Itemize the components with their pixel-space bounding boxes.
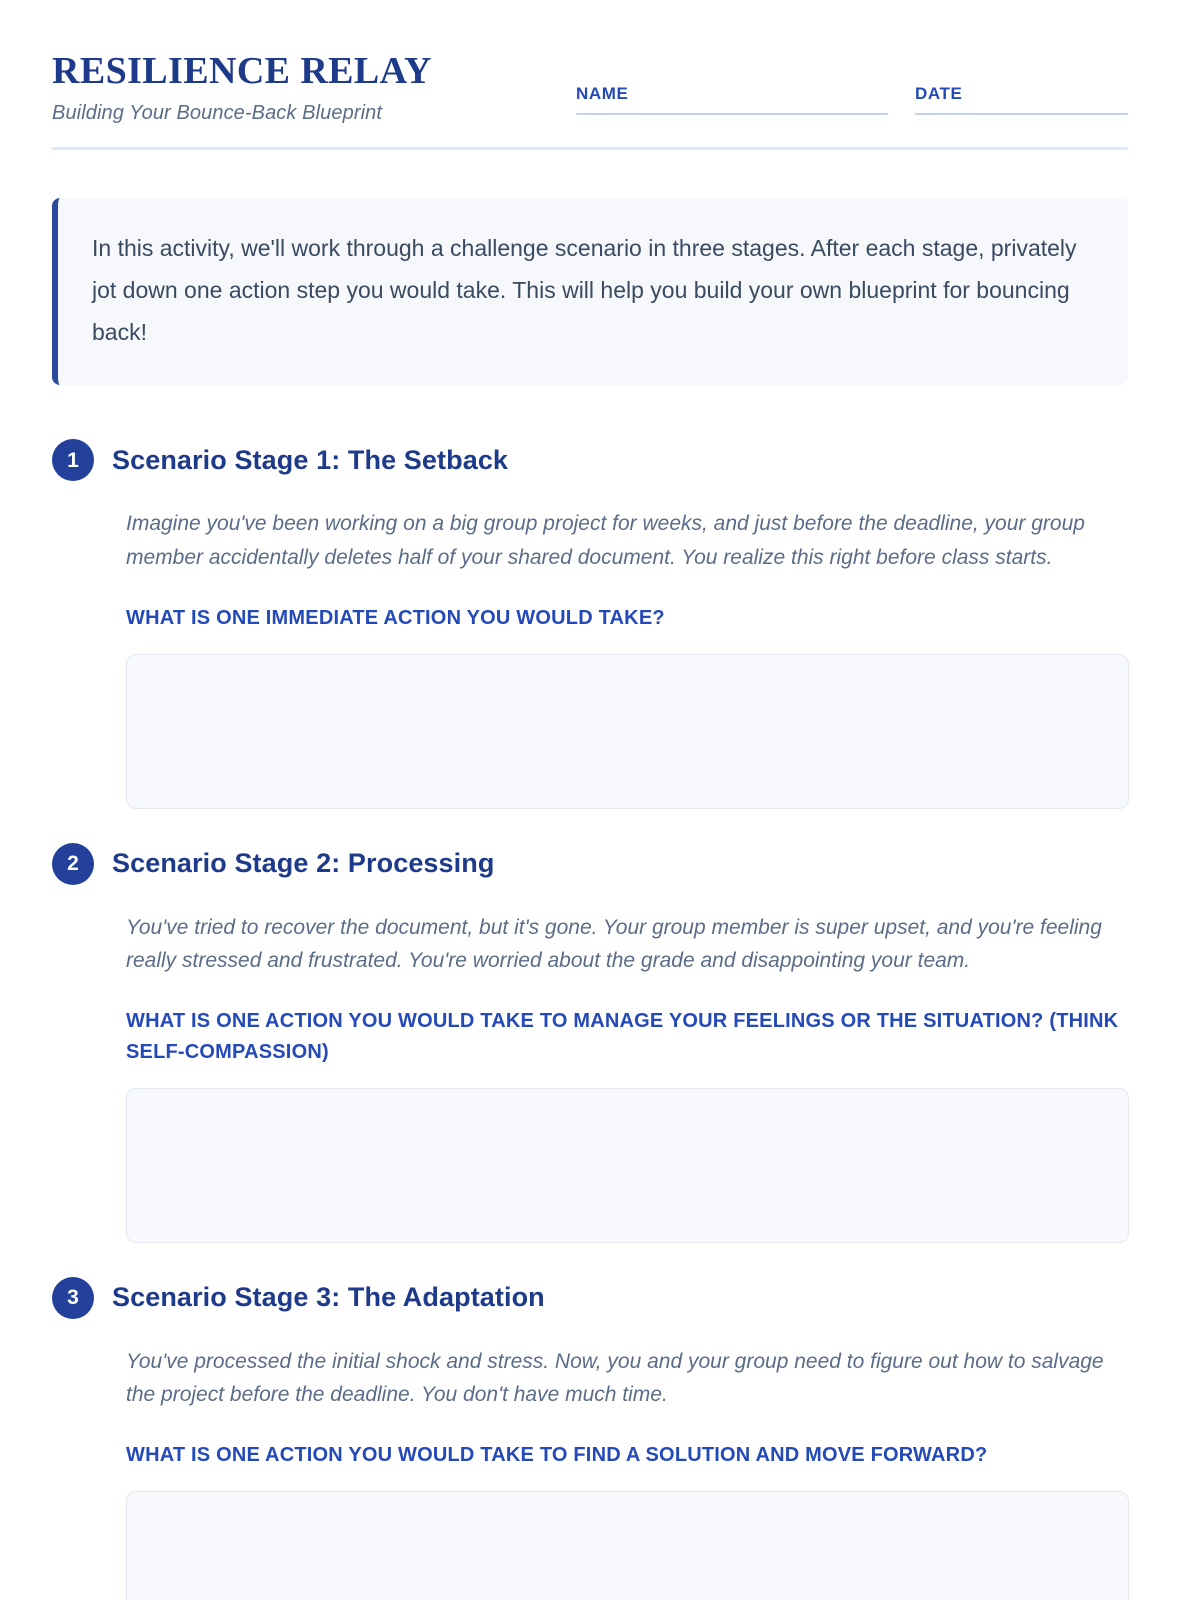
stage-2-title: Scenario Stage 2: Processing	[112, 848, 494, 879]
header-divider	[52, 147, 1128, 150]
intro-callout: In this activity, we'll work through a c…	[52, 198, 1128, 386]
page-subtitle: Building Your Bounce-Back Blueprint	[52, 102, 432, 125]
meta-fields: NAME DATE	[576, 48, 1128, 115]
stage-section-2: 2 Scenario Stage 2: Processing You've tr…	[52, 843, 1128, 1243]
date-input-line[interactable]	[915, 113, 1128, 115]
date-field-label: DATE	[915, 84, 1128, 113]
stage-number-badge: 2	[52, 843, 94, 885]
stage-2-scenario-text: You've tried to recover the document, bu…	[126, 911, 1128, 978]
brand-block: RESILIENCE RELAY Building Your Bounce-Ba…	[52, 48, 432, 125]
stage-number-badge: 3	[52, 1277, 94, 1319]
stage-1-header: 1 Scenario Stage 1: The Setback	[52, 439, 1128, 481]
stage-section-3: 3 Scenario Stage 3: The Adaptation You'v…	[52, 1277, 1128, 1600]
intro-text: In this activity, we'll work through a c…	[92, 228, 1092, 354]
stage-2-header: 2 Scenario Stage 2: Processing	[52, 843, 1128, 885]
worksheet-page: RESILIENCE RELAY Building Your Bounce-Ba…	[0, 0, 1200, 1600]
stage-1-prompt-label: WHAT IS ONE IMMEDIATE ACTION YOU WOULD T…	[126, 603, 1128, 634]
name-input-line[interactable]	[576, 113, 888, 115]
stage-3-prompt-label: WHAT IS ONE ACTION YOU WOULD TAKE TO FIN…	[126, 1440, 1128, 1471]
stage-2-body: You've tried to recover the document, bu…	[52, 911, 1128, 1243]
stage-1-body: Imagine you've been working on a big gro…	[52, 507, 1128, 808]
stage-2-answer-box[interactable]	[126, 1088, 1129, 1243]
stage-1-scenario-text: Imagine you've been working on a big gro…	[126, 507, 1128, 574]
stage-3-body: You've processed the initial shock and s…	[52, 1345, 1128, 1600]
stage-3-answer-box[interactable]	[126, 1491, 1129, 1600]
stage-3-header: 3 Scenario Stage 3: The Adaptation	[52, 1277, 1128, 1319]
date-field-group[interactable]: DATE	[915, 84, 1128, 115]
worksheet-header: RESILIENCE RELAY Building Your Bounce-Ba…	[52, 48, 1128, 147]
stage-3-title: Scenario Stage 3: The Adaptation	[112, 1282, 545, 1313]
stage-2-prompt-label: WHAT IS ONE ACTION YOU WOULD TAKE TO MAN…	[126, 1006, 1128, 1068]
stage-number-badge: 1	[52, 439, 94, 481]
stage-1-answer-box[interactable]	[126, 654, 1129, 809]
stage-section-1: 1 Scenario Stage 1: The Setback Imagine …	[52, 439, 1128, 808]
name-field-group[interactable]: NAME	[576, 84, 888, 115]
page-title: RESILIENCE RELAY	[52, 52, 432, 92]
name-field-label: NAME	[576, 84, 888, 113]
stage-1-title: Scenario Stage 1: The Setback	[112, 445, 508, 476]
stage-3-scenario-text: You've processed the initial shock and s…	[126, 1345, 1128, 1412]
